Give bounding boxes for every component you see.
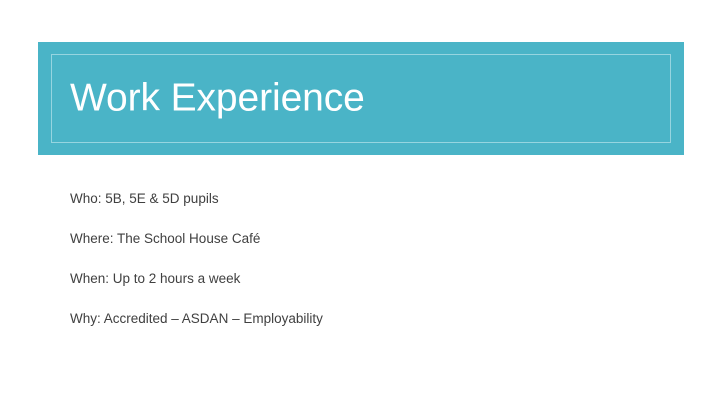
slide-title-banner: Work Experience xyxy=(38,42,684,155)
body-line-who: Who: 5B, 5E & 5D pupils xyxy=(70,192,650,206)
slide-title: Work Experience xyxy=(70,78,365,119)
body-line-where: Where: The School House Café xyxy=(70,232,650,246)
body-line-why: Why: Accredited – ASDAN – Employability xyxy=(70,312,650,326)
slide-body-text-block: Who: 5B, 5E & 5D pupils Where: The Schoo… xyxy=(70,192,650,326)
body-line-when: When: Up to 2 hours a week xyxy=(70,272,650,286)
presentation-slide: Work Experience Who: 5B, 5E & 5D pupils … xyxy=(0,0,720,405)
